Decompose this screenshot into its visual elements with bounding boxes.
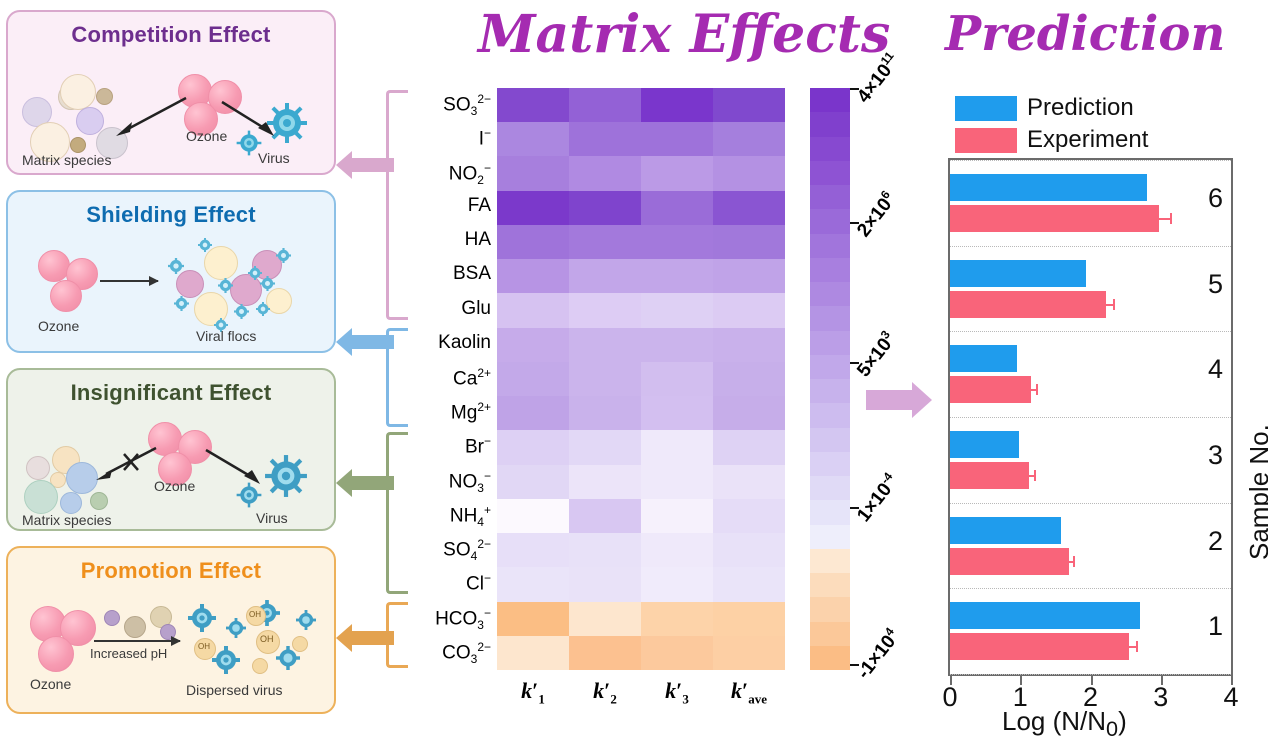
heatmap-cell[interactable]	[569, 156, 641, 190]
heatmap-cell[interactable]	[497, 259, 569, 293]
heatmap-cell[interactable]	[641, 88, 713, 122]
colorbar-segment	[810, 306, 850, 330]
heatmap-row	[497, 499, 785, 533]
heatmap-cell[interactable]	[713, 499, 785, 533]
heatmap-cell[interactable]	[497, 122, 569, 156]
colorbar-segment	[810, 258, 850, 282]
panel-title-shielding: Shielding Effect	[8, 202, 334, 228]
heatmap-row	[497, 328, 785, 362]
process-arrow	[94, 640, 180, 642]
sample-number-label: 2	[1208, 526, 1223, 557]
label-matrix-species: Matrix species	[22, 512, 111, 528]
process-arrow	[100, 280, 158, 282]
virus-large-icon	[264, 454, 308, 498]
heatmap-cell[interactable]	[713, 567, 785, 601]
heatmap-row-label: HCO3−	[435, 606, 491, 632]
heatmap-row	[497, 567, 785, 601]
heatmap-cell[interactable]	[641, 396, 713, 430]
heatmap-row-labels: SO32−I−NO2−FAHABSAGluKaolinCa2+Mg2+Br−NO…	[395, 88, 491, 670]
heatmap-row-label: SO42−	[443, 537, 491, 563]
label-virus: Virus	[256, 510, 288, 526]
heatmap-cell[interactable]	[569, 636, 641, 670]
grid-line	[950, 331, 1231, 332]
heatmap-cell[interactable]	[569, 533, 641, 567]
colorbar-segment	[810, 549, 850, 573]
matrix-effects-title: Matrix Effects	[478, 4, 890, 65]
colorbar-segment	[810, 476, 850, 500]
bar-experiment[interactable]	[950, 291, 1106, 318]
label-ozone: Ozone	[38, 318, 79, 334]
panel-shielding-effect: Shielding Effect Ozone Vir	[6, 190, 336, 353]
heatmap-row	[497, 191, 785, 225]
colorbar-segment	[810, 88, 850, 112]
heatmap-row	[497, 122, 785, 156]
heatmap-row-label: CO32−	[442, 640, 491, 666]
heatmap-cell[interactable]	[641, 293, 713, 327]
hydroxyl-radical-label: OH	[198, 642, 210, 651]
bar-experiment[interactable]	[950, 376, 1031, 403]
colorbar-segment	[810, 209, 850, 233]
label-viral-flocs: Viral flocs	[196, 328, 256, 344]
bar-experiment[interactable]	[950, 205, 1159, 232]
x-axis-tick-label: 0	[930, 682, 970, 713]
error-bar	[1064, 556, 1075, 567]
heatmap-row	[497, 362, 785, 396]
bar-prediction[interactable]	[950, 431, 1019, 458]
panel-title-promotion: Promotion Effect	[8, 558, 334, 584]
x-axis-tick-label: 4	[1211, 682, 1251, 713]
heatmap-column-label: k′3	[641, 678, 713, 724]
x-axis-tick-label: 3	[1141, 682, 1181, 713]
heatmap-cell[interactable]	[713, 328, 785, 362]
sample-number-label: 6	[1208, 183, 1223, 214]
heatmap-cell[interactable]	[497, 156, 569, 190]
arrow-to-virus	[220, 98, 280, 140]
grid-line	[950, 160, 1231, 161]
label-ozone: Ozone	[186, 128, 227, 144]
heatmap-cell[interactable]	[569, 328, 641, 362]
heatmap-cell[interactable]	[497, 225, 569, 259]
label-ozone: Ozone	[30, 676, 71, 692]
heatmap-cell[interactable]	[641, 430, 713, 464]
heatmap-column-label: k′1	[497, 678, 569, 724]
y-axis-label: Sample No.	[1244, 424, 1268, 560]
colorbar-tick-label: 5×103	[851, 327, 901, 381]
heatmap-cell[interactable]	[497, 396, 569, 430]
heatmap-row	[497, 396, 785, 430]
legend-label: Prediction	[1027, 94, 1134, 122]
error-bar	[1022, 470, 1036, 481]
heatmap-grid	[497, 88, 785, 670]
colorbar-segment	[810, 622, 850, 646]
heatmap-row	[497, 430, 785, 464]
colorbar-tick-label: 1×10-4	[851, 470, 903, 527]
error-bar	[1097, 299, 1115, 310]
heatmap-cell[interactable]	[713, 122, 785, 156]
heatmap-row	[497, 259, 785, 293]
bar-experiment[interactable]	[950, 462, 1029, 489]
heatmap-row	[497, 293, 785, 327]
heatmap-cell[interactable]	[713, 156, 785, 190]
panel-promotion-effect: Promotion Effect Ozone Increased pH	[6, 546, 336, 714]
heatmap-row	[497, 225, 785, 259]
arrow-shielding-to-panel	[336, 335, 394, 349]
colorbar-segment	[810, 112, 850, 136]
error-bar	[1121, 641, 1138, 652]
grid-line	[950, 417, 1231, 418]
sample-number-label: 1	[1208, 611, 1223, 642]
heatmap-cell[interactable]	[713, 602, 785, 636]
error-bar	[1147, 213, 1172, 224]
colorbar-segment	[810, 282, 850, 306]
heatmap-to-prediction-arrow	[866, 390, 932, 410]
heatmap-cell[interactable]	[641, 636, 713, 670]
heatmap-cell[interactable]	[569, 567, 641, 601]
heatmap-cell[interactable]	[497, 430, 569, 464]
heatmap-cell[interactable]	[641, 122, 713, 156]
colorbar-segment	[810, 379, 850, 403]
bar-prediction[interactable]	[950, 345, 1017, 372]
heatmap-row-label: HA	[465, 229, 491, 251]
heatmap-cell[interactable]	[713, 293, 785, 327]
heatmap-cell[interactable]	[569, 259, 641, 293]
grid-line	[950, 674, 1231, 675]
heatmap-row-label: NO3−	[449, 469, 491, 495]
heatmap-cell[interactable]	[497, 533, 569, 567]
heatmap-cell[interactable]	[569, 191, 641, 225]
colorbar-segment	[810, 452, 850, 476]
grid-line	[950, 503, 1231, 504]
heatmap-cell[interactable]	[497, 293, 569, 327]
colorbar-tick-label: 2×106	[851, 188, 901, 242]
heatmap-cell[interactable]	[641, 465, 713, 499]
heatmap-row-label: Ca2+	[453, 366, 491, 390]
error-bar	[1024, 384, 1038, 395]
sample-number-label: 3	[1208, 440, 1223, 471]
arrow-competition-to-panel	[336, 158, 394, 172]
heatmap-cell[interactable]	[569, 225, 641, 259]
prediction-title: Prediction	[945, 6, 1225, 62]
heatmap-row-label: Br−	[465, 434, 491, 458]
colorbar-segment	[810, 185, 850, 209]
heatmap-cell[interactable]	[569, 122, 641, 156]
heatmap-cell[interactable]	[497, 88, 569, 122]
heatmap-row-label: Kaolin	[438, 332, 491, 354]
sample-number-label: 5	[1208, 269, 1223, 300]
heatmap-cell[interactable]	[497, 499, 569, 533]
heatmap-cell[interactable]	[641, 567, 713, 601]
colorbar-segment	[810, 137, 850, 161]
heatmap-cell[interactable]	[641, 328, 713, 362]
heatmap-cell[interactable]	[569, 362, 641, 396]
heatmap-cell[interactable]	[569, 293, 641, 327]
panel-insignificant-effect: Insignificant Effect Ozone	[6, 368, 336, 531]
heatmap-cell[interactable]	[641, 191, 713, 225]
heatmap-cell[interactable]	[569, 396, 641, 430]
heatmap-cell[interactable]	[713, 533, 785, 567]
heatmap-cell[interactable]	[569, 499, 641, 533]
colorbar-segment	[810, 573, 850, 597]
label-matrix-species: Matrix species	[22, 152, 111, 168]
heatmap-row-label: BSA	[453, 263, 491, 285]
heatmap-row	[497, 465, 785, 499]
heatmap-row-label: Glu	[461, 298, 491, 320]
heatmap-cell[interactable]	[497, 362, 569, 396]
heatmap-row-label: Cl−	[466, 571, 491, 595]
colorbar-tick-label: -1×104	[851, 625, 905, 684]
colorbar-segment	[810, 597, 850, 621]
heatmap-cell[interactable]	[569, 430, 641, 464]
sample-number-label: 4	[1208, 354, 1223, 385]
heatmap-cell[interactable]	[497, 465, 569, 499]
heatmap-column-label: k′2	[569, 678, 641, 724]
legend-label: Experiment	[1027, 126, 1148, 154]
label-increased-ph: Increased pH	[90, 646, 167, 661]
panel-title-competition: Competition Effect	[8, 22, 334, 48]
heatmap-row-label: SO32−	[443, 92, 491, 118]
colorbar-segment	[810, 331, 850, 355]
panel-title-insignificant: Insignificant Effect	[8, 380, 334, 406]
heatmap-cell[interactable]	[713, 88, 785, 122]
heatmap-cell[interactable]	[713, 430, 785, 464]
heatmap-row	[497, 156, 785, 190]
heatmap-column-label: k′ave	[713, 678, 785, 724]
label-ozone: Ozone	[154, 478, 195, 494]
heatmap-row	[497, 602, 785, 636]
heatmap-cell[interactable]	[497, 567, 569, 601]
heatmap-cell[interactable]	[497, 636, 569, 670]
grid-line	[950, 588, 1231, 589]
legend-swatch	[955, 128, 1017, 153]
colorbar-segment	[810, 500, 850, 524]
heatmap-cell[interactable]	[497, 602, 569, 636]
heatmap-cell[interactable]	[641, 225, 713, 259]
legend-swatch	[955, 96, 1017, 121]
arrow-promotion-to-panel	[336, 631, 394, 645]
panel-competition-effect: Competition Effect	[6, 10, 336, 175]
heatmap-cell[interactable]	[713, 396, 785, 430]
colorbar-segment	[810, 646, 850, 670]
heatmap-column-labels: k′1k′2k′3k′ave	[497, 678, 785, 724]
bar-prediction[interactable]	[950, 602, 1140, 629]
heatmap-cell[interactable]	[641, 533, 713, 567]
bar-prediction[interactable]	[950, 174, 1147, 201]
colorbar-segment	[810, 525, 850, 549]
heatmap-cell[interactable]	[569, 602, 641, 636]
heatmap-row-label: NO2−	[449, 161, 491, 187]
heatmap-cell[interactable]	[641, 362, 713, 396]
heatmap-cell[interactable]	[713, 259, 785, 293]
bar-prediction[interactable]	[950, 260, 1086, 287]
heatmap-row-label: I−	[479, 126, 491, 150]
label-dispersed-virus: Dispersed virus	[186, 682, 282, 698]
heatmap-cell[interactable]	[713, 191, 785, 225]
colorbar-segment	[810, 355, 850, 379]
heatmap-row	[497, 88, 785, 122]
heatmap-cell[interactable]	[497, 191, 569, 225]
heatmap-cell[interactable]	[713, 362, 785, 396]
grid-line	[950, 246, 1231, 247]
x-axis-label: Log (N/N0)	[1002, 706, 1127, 741]
virus-small-icon	[236, 482, 262, 508]
colorbar-segment	[810, 428, 850, 452]
heatmap-cell[interactable]	[641, 499, 713, 533]
heatmap-cell[interactable]	[641, 259, 713, 293]
heatmap-row	[497, 636, 785, 670]
heatmap-colorbar	[810, 88, 850, 670]
prediction-bar-chart: 123456	[948, 158, 1233, 676]
heatmap-row-label: NH4+	[450, 503, 491, 529]
heatmap-cell[interactable]	[713, 225, 785, 259]
bar-experiment[interactable]	[950, 548, 1069, 575]
heatmap-row-label: Mg2+	[451, 400, 491, 424]
heatmap-cell[interactable]	[569, 465, 641, 499]
heatmap-cell[interactable]	[497, 328, 569, 362]
colorbar-segment	[810, 161, 850, 185]
heatmap-row	[497, 533, 785, 567]
heatmap-row-label: FA	[468, 195, 491, 217]
colorbar-segment	[810, 234, 850, 258]
bar-experiment[interactable]	[950, 633, 1129, 660]
heatmap-cell[interactable]	[641, 156, 713, 190]
bar-prediction[interactable]	[950, 517, 1061, 544]
heatmap-cell[interactable]	[569, 88, 641, 122]
arrow-to-matrix-species	[108, 94, 188, 139]
arrow-insignificant-to-panel	[336, 476, 394, 490]
heatmap-cell[interactable]	[641, 602, 713, 636]
heatmap-cell[interactable]	[713, 465, 785, 499]
blocked-arrow-to-matrix-species	[92, 446, 158, 482]
colorbar-segment	[810, 403, 850, 427]
label-virus: Virus	[258, 150, 290, 166]
heatmap-cell[interactable]	[713, 636, 785, 670]
